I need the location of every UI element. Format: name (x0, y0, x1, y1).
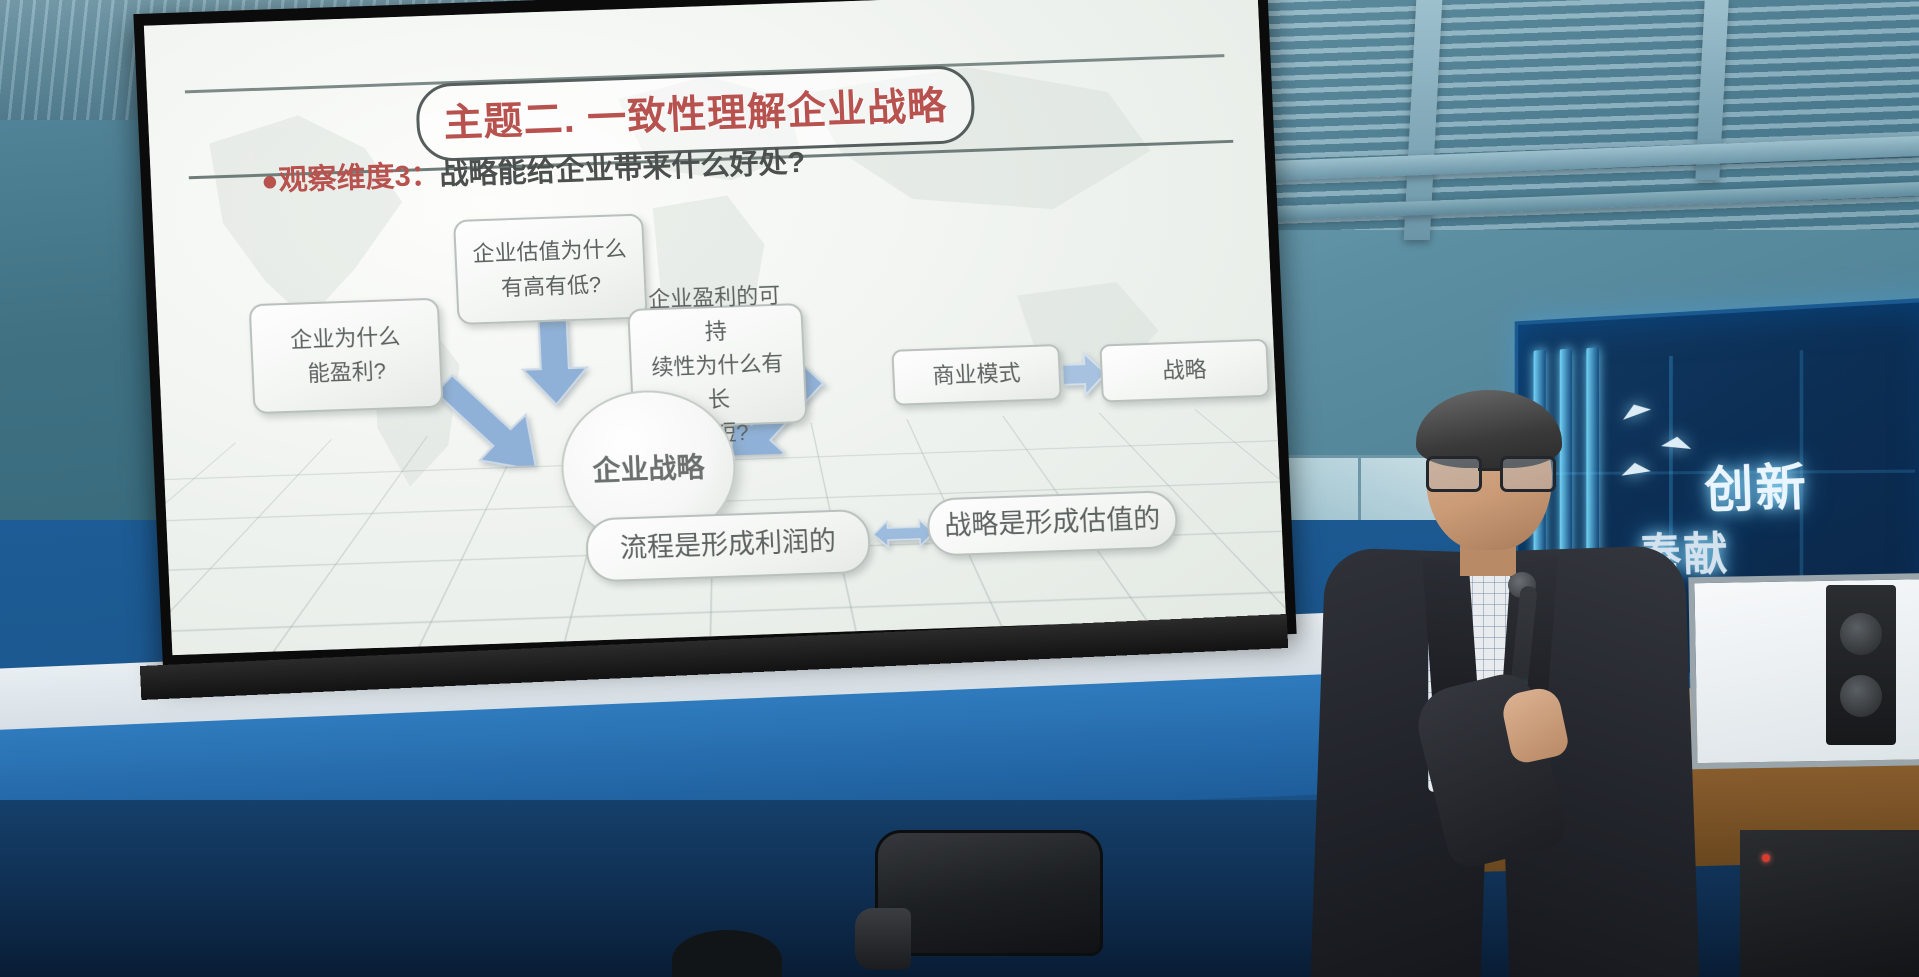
projection-screen-frame: 主题二. 一致性理解企业战略 ●观察维度3：战略能给企业带来什么好处? (133, 0, 1296, 673)
node-process-creates-profit[interactable]: 流程是形成利润的 (585, 509, 872, 583)
node-sustainability-line1: 企业盈利的可持 (638, 278, 792, 351)
projection-screen-surface[interactable]: 主题二. 一致性理解企业战略 ●观察维度3：战略能给企业带来什么好处? (144, 0, 1286, 655)
glasses-icon (1422, 456, 1556, 486)
speaker-cone-upper (1840, 613, 1882, 655)
glasses-bridge (1478, 468, 1502, 471)
node-profit[interactable]: 企业为什么 能盈利? (249, 298, 444, 415)
node-enterprise-strategy-label: 企业战略 (592, 445, 706, 489)
node-profit-line1: 企业为什么 (290, 320, 402, 358)
node-business-model[interactable]: 商业模式 (891, 344, 1061, 406)
glasses-lens-left (1426, 456, 1482, 492)
node-strategy[interactable]: 战略 (1099, 339, 1270, 403)
slide-subtitle-marker: ●观察维度3： (260, 160, 440, 198)
arrow-process-valuation-link (873, 515, 935, 553)
status-led-indicator (1762, 854, 1770, 862)
node-process-creates-profit-label: 流程是形成利润的 (619, 521, 837, 570)
equipment-rack (1740, 830, 1919, 977)
chair-armrest (855, 908, 911, 970)
slide-canvas: 主题二. 一致性理解企业战略 ●观察维度3：战略能给企业带来什么好处? (144, 0, 1286, 655)
presenter (1310, 390, 1730, 977)
node-valuation[interactable]: 企业估值为什么 有高有低? (453, 213, 648, 325)
node-strategy-creates-valuation-label: 战略是形成估值的 (944, 499, 1162, 548)
node-valuation-line2: 有高有低? (500, 267, 602, 305)
node-strategy-label: 战略 (1162, 353, 1208, 389)
speaker-cone-lower (1840, 675, 1882, 717)
presentation-room-scene: 创新 奉献 主题二. 一致性理解企业 (0, 0, 1919, 977)
node-business-model-label: 商业模式 (932, 356, 1022, 393)
node-valuation-line1: 企业估值为什么 (472, 232, 627, 271)
office-chair (855, 830, 1115, 977)
node-profit-line2: 能盈利? (307, 355, 387, 392)
loudspeaker (1826, 585, 1896, 745)
glasses-lens-right (1500, 456, 1556, 492)
node-strategy-creates-valuation[interactable]: 战略是形成估值的 (926, 490, 1178, 557)
